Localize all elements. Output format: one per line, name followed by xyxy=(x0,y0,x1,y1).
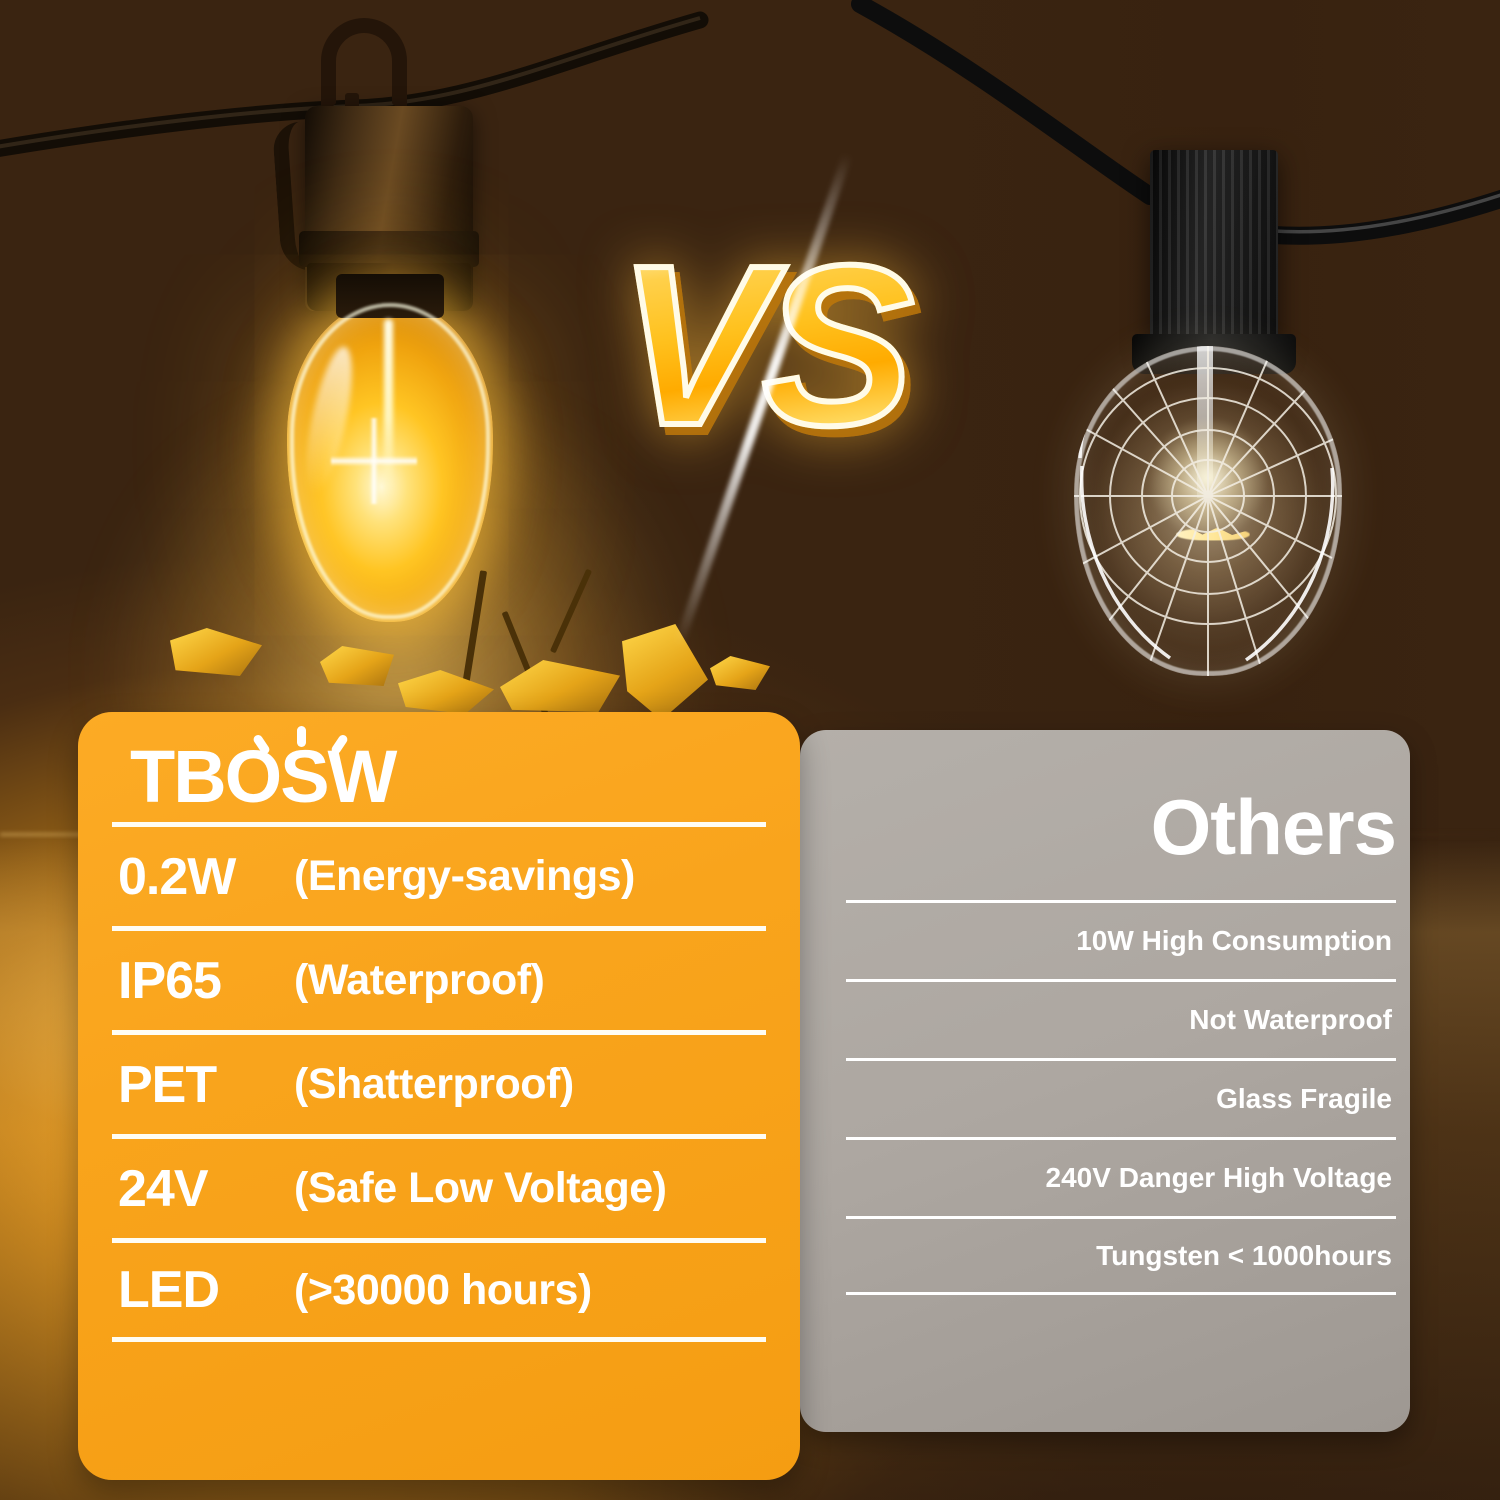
brand-row-spec: 0.2W xyxy=(118,847,294,907)
versus-badge: VS xyxy=(612,250,912,550)
light-rays-icon xyxy=(255,726,351,756)
brand-row-spec: LED xyxy=(118,1260,294,1320)
others-row: Glass Fragile xyxy=(846,1058,1396,1137)
brand-row: 0.2W (Energy-savings) xyxy=(112,822,766,926)
brand-row: IP65 (Waterproof) xyxy=(112,926,766,1030)
others-panel: Others 10W High Consumption Not Waterpro… xyxy=(800,730,1410,1432)
shattered-glass-bulb xyxy=(1074,346,1342,676)
brand-row: LED (>30000 hours) xyxy=(112,1238,766,1342)
brand-panel: TBOSW 0.2W (Energy-savings) IP65 (Waterp… xyxy=(78,712,800,1480)
hanging-hook-icon xyxy=(321,18,407,118)
others-row: Tungsten < 1000hours xyxy=(846,1216,1396,1295)
others-row: 240V Danger High Voltage xyxy=(846,1137,1396,1216)
brand-row-desc: (Waterproof) xyxy=(294,956,544,1005)
brand-row-spec: 24V xyxy=(118,1159,294,1219)
brand-logo: TBOSW xyxy=(112,712,766,820)
brand-row-spec: IP65 xyxy=(118,951,294,1011)
brand-row-desc: (Shatterproof) xyxy=(294,1060,574,1109)
others-row-list: 10W High Consumption Not Waterproof Glas… xyxy=(846,900,1396,1295)
glass-bulb-socket xyxy=(1150,150,1278,350)
others-title: Others xyxy=(846,730,1396,866)
others-row: 10W High Consumption xyxy=(846,900,1396,979)
led-bulb-assembly xyxy=(283,18,553,648)
brand-row-spec: PET xyxy=(118,1055,294,1115)
versus-label: VS xyxy=(612,232,912,460)
brand-row: 24V (Safe Low Voltage) xyxy=(112,1134,766,1238)
brand-row: PET (Shatterproof) xyxy=(112,1030,766,1134)
brand-row-list: 0.2W (Energy-savings) IP65 (Waterproof) … xyxy=(112,822,766,1342)
product-comparison-image: VS Others 10W High Consumption Not Water… xyxy=(0,0,1500,1500)
comparison-panels: Others 10W High Consumption Not Waterpro… xyxy=(0,712,1500,1480)
broken-bulb-assembly xyxy=(1090,150,1360,710)
brand-row-desc: (Energy-savings) xyxy=(294,852,635,901)
brand-row-desc: (>30000 hours) xyxy=(294,1266,592,1315)
others-row: Not Waterproof xyxy=(846,979,1396,1058)
brand-row-desc: (Safe Low Voltage) xyxy=(294,1164,666,1213)
